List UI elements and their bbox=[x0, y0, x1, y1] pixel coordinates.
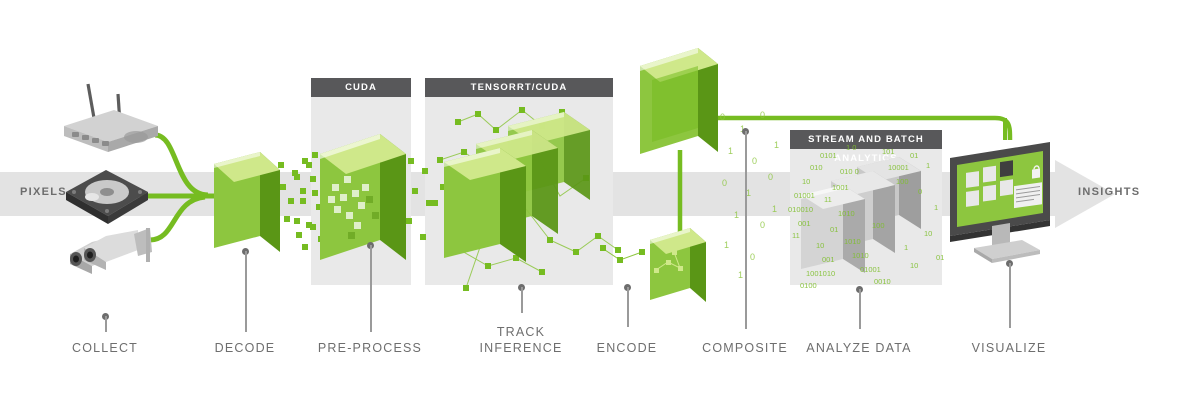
leader-analyze bbox=[859, 289, 861, 329]
svg-text:11: 11 bbox=[824, 195, 832, 204]
svg-text:01001: 01001 bbox=[794, 191, 815, 200]
svg-text:0: 0 bbox=[760, 220, 765, 230]
svg-text:0101: 0101 bbox=[820, 151, 837, 160]
svg-text:001: 001 bbox=[822, 255, 835, 264]
stage-label-encode: ENCODE bbox=[562, 340, 692, 356]
composite-binary-particles: 010 101 010 101 011 bbox=[716, 108, 796, 288]
svg-text:1: 1 bbox=[926, 161, 930, 170]
svg-text:1: 1 bbox=[734, 210, 739, 220]
svg-text:1: 1 bbox=[904, 243, 908, 252]
svg-text:01001: 01001 bbox=[860, 265, 881, 274]
svg-text:0: 0 bbox=[760, 110, 765, 120]
svg-text:100: 100 bbox=[872, 221, 885, 230]
svg-text:010 0: 010 0 bbox=[840, 167, 859, 176]
svg-text:10001: 10001 bbox=[888, 163, 909, 172]
svg-text:1010: 1010 bbox=[838, 209, 855, 218]
svg-text:010010: 010010 bbox=[788, 205, 813, 214]
svg-text:010: 010 bbox=[810, 163, 823, 172]
svg-text:1: 1 bbox=[774, 140, 779, 150]
analyze-binary-particles: 01011 0101 010011 10010 010001 010011001… bbox=[786, 140, 956, 295]
stage-label-visualize: VISUALIZE bbox=[944, 340, 1074, 356]
svg-text:1: 1 bbox=[746, 188, 751, 198]
pipeline-diagram: PIXELS INSIGHTS CUDA TENSORRT/CUDA STREA… bbox=[0, 0, 1200, 412]
stage-label-collect: COLLECT bbox=[40, 340, 170, 356]
svg-text:10: 10 bbox=[802, 177, 810, 186]
composite-block-icon bbox=[636, 44, 720, 184]
svg-text:1: 1 bbox=[724, 240, 729, 250]
svg-text:10: 10 bbox=[910, 261, 918, 270]
hard-disk-icon bbox=[62, 162, 152, 230]
svg-text:10: 10 bbox=[924, 229, 932, 238]
svg-text:01: 01 bbox=[910, 151, 918, 160]
leader-inference bbox=[521, 287, 523, 313]
svg-text:11: 11 bbox=[792, 231, 800, 240]
svg-text:1: 1 bbox=[728, 146, 733, 156]
wifi-router-icon bbox=[58, 80, 168, 150]
svg-text:0100: 0100 bbox=[800, 281, 817, 290]
encode-block-icon bbox=[648, 226, 712, 320]
svg-text:1010: 1010 bbox=[852, 251, 869, 260]
leader-collect bbox=[105, 316, 107, 332]
svg-text:1 0: 1 0 bbox=[846, 143, 856, 152]
svg-text:0: 0 bbox=[750, 252, 755, 262]
svg-text:1001010: 1001010 bbox=[806, 269, 835, 278]
svg-text:0: 0 bbox=[768, 172, 773, 182]
svg-text:1001: 1001 bbox=[832, 183, 849, 192]
svg-text:0: 0 bbox=[918, 187, 922, 196]
stage-label-analyze: ANALYZE DATA bbox=[794, 340, 924, 356]
svg-text:100: 100 bbox=[896, 177, 909, 186]
svg-text:1: 1 bbox=[738, 270, 743, 280]
svg-text:0: 0 bbox=[720, 112, 725, 122]
leader-decode bbox=[245, 251, 247, 332]
desktop-monitor-icon bbox=[944, 140, 1068, 268]
stage-label-composite: COMPOSITE bbox=[680, 340, 810, 356]
svg-text:0010: 0010 bbox=[874, 277, 891, 286]
svg-text:101: 101 bbox=[882, 147, 895, 156]
svg-text:1: 1 bbox=[934, 203, 938, 212]
leader-visualize bbox=[1009, 263, 1011, 328]
svg-text:1010: 1010 bbox=[844, 237, 861, 246]
stage-label-preprocess: PRE-PROCESS bbox=[305, 340, 435, 356]
security-camera-icon bbox=[62, 222, 162, 284]
leader-encode bbox=[627, 287, 629, 327]
leader-composite bbox=[745, 131, 747, 329]
preprocess-block-icon bbox=[318, 128, 414, 278]
svg-text:10: 10 bbox=[816, 241, 824, 250]
leader-preprocess bbox=[370, 245, 372, 332]
svg-text:01: 01 bbox=[830, 225, 838, 234]
svg-text:0: 0 bbox=[752, 156, 757, 166]
inference-block-stack-icon bbox=[442, 112, 622, 292]
stage-label-decode: DECODE bbox=[180, 340, 310, 356]
encode-input-nodes bbox=[600, 230, 656, 290]
svg-text:0: 0 bbox=[722, 178, 727, 188]
svg-text:1: 1 bbox=[772, 204, 777, 214]
preprocess-pixel-spray-left bbox=[292, 160, 328, 260]
svg-text:001: 001 bbox=[798, 219, 811, 228]
